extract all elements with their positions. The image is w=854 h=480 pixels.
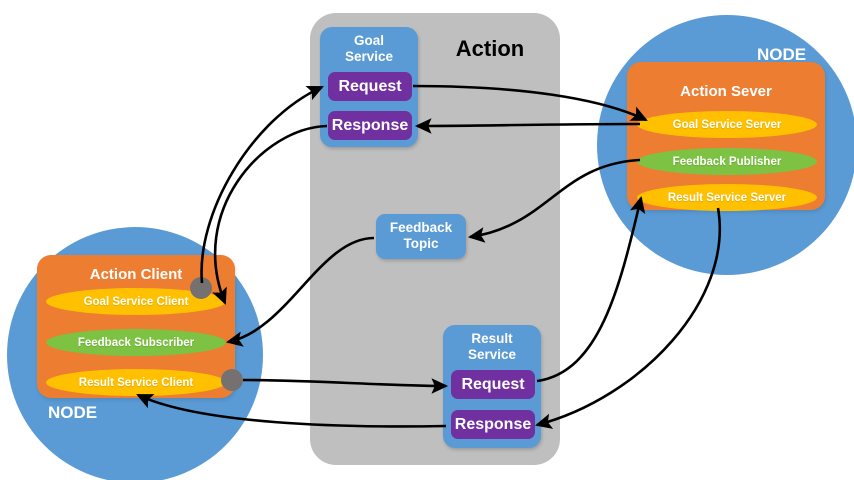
diagram-canvas: Action Goal Service Request Response Fee… xyxy=(0,0,854,480)
action-server-title: Action Sever xyxy=(627,83,825,100)
goal-service-request-box[interactable]: Request xyxy=(328,72,412,101)
arrow-goal-client-to-request xyxy=(202,87,322,283)
feedback-topic-label: Feedback Topic xyxy=(376,220,466,252)
goal-client-port-dot xyxy=(190,277,212,299)
goal-service-title-line1: Goal xyxy=(354,33,384,48)
result-service-title: Result Service xyxy=(443,331,541,363)
result-service-request-box[interactable]: Request xyxy=(451,370,535,399)
server-node-label: NODE xyxy=(757,45,806,65)
feedback-topic-label-line1: Feedback xyxy=(390,220,452,235)
feedback-publisher-pill[interactable]: Feedback Publisher xyxy=(637,148,817,175)
result-client-port-dot xyxy=(221,369,243,391)
result-service-title-line1: Result xyxy=(471,331,512,346)
goal-service-response-box[interactable]: Response xyxy=(328,111,412,140)
feedback-topic-label-line2: Topic xyxy=(404,236,439,251)
goal-service-title-line2: Service xyxy=(345,49,393,64)
client-node-label: NODE xyxy=(48,403,97,423)
goal-service-title: Goal Service xyxy=(320,33,418,65)
result-service-client-pill[interactable]: Result Service Client xyxy=(46,369,226,396)
result-service-title-line2: Service xyxy=(468,347,516,362)
result-service-server-pill[interactable]: Result Service Server xyxy=(637,184,817,211)
goal-service-server-pill[interactable]: Goal Service Server xyxy=(637,111,817,138)
feedback-subscriber-pill[interactable]: Feedback Subscriber xyxy=(46,329,226,356)
action-group-title: Action xyxy=(430,36,550,62)
result-service-response-box[interactable]: Response xyxy=(451,410,535,439)
